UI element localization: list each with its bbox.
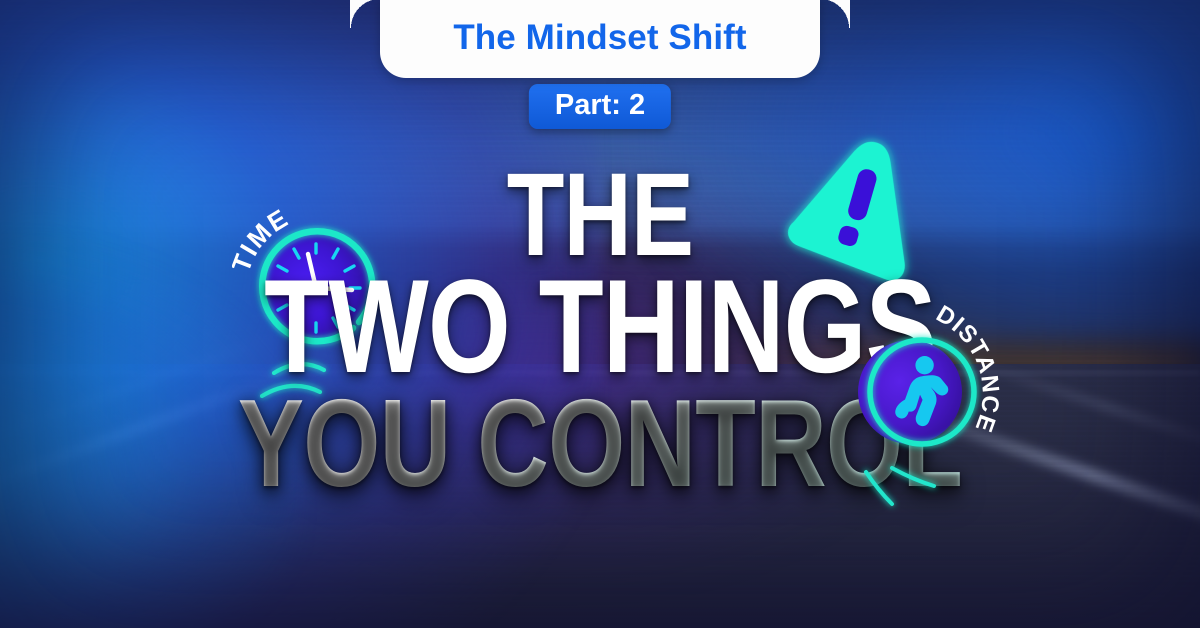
title-tab: The Mindset Shift — [380, 0, 820, 78]
tab-title-text: The Mindset Shift — [453, 20, 746, 55]
part-badge-label: Part: 2 — [555, 89, 645, 121]
part-badge: Part: 2 — [529, 84, 671, 129]
distance-motion-arcs — [866, 468, 934, 504]
social-card: The Mindset Shift Part: 2 THE TWO THINGS… — [0, 0, 1200, 628]
warning-triangle-icon — [772, 128, 944, 288]
time-motion-arcs — [262, 364, 324, 396]
distance-badge: DISTANCE — [852, 300, 1037, 535]
time-badge: TIME — [232, 198, 407, 428]
